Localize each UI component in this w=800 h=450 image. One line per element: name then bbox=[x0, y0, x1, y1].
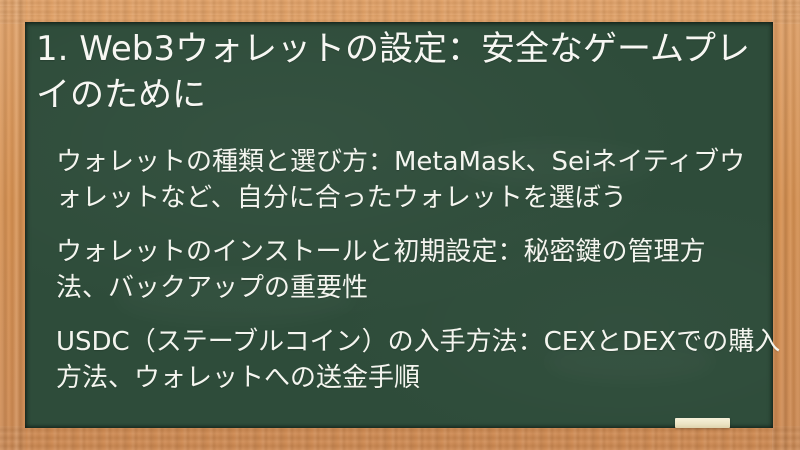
frame-grain-left bbox=[0, 0, 26, 450]
chalkboard-surface: 1. Web3ウォレットの設定：安全なゲームプレイのために ウォレットの種類と選… bbox=[25, 22, 773, 428]
bullet-item-2: ウォレットのインストールと初期設定：秘密鍵の管理方法、バックアップの重要性 bbox=[56, 234, 756, 306]
frame-ledge-bottom bbox=[0, 426, 800, 450]
slide-title: 1. Web3ウォレットの設定：安全なゲームプレイのために bbox=[36, 26, 752, 118]
chalkboard-slide: 1. Web3ウォレットの設定：安全なゲームプレイのために ウォレットの種類と選… bbox=[0, 0, 800, 450]
bullet-item-1: ウォレットの種類と選び方：MetaMask、Seiネイティブウォレットなど、自分… bbox=[56, 144, 756, 216]
frame-grain-top bbox=[0, 0, 800, 24]
slide-content: 1. Web3ウォレットの設定：安全なゲームプレイのために ウォレットの種類と選… bbox=[25, 22, 773, 428]
bullet-list: ウォレットの種類と選び方：MetaMask、Seiネイティブウォレットなど、自分… bbox=[56, 144, 756, 396]
chalk-stick-icon bbox=[675, 418, 730, 428]
bullet-item-3: USDC（ステーブルコイン）の入手方法：CEXとDEXでの購入方法、ウォレットへ… bbox=[56, 324, 786, 396]
